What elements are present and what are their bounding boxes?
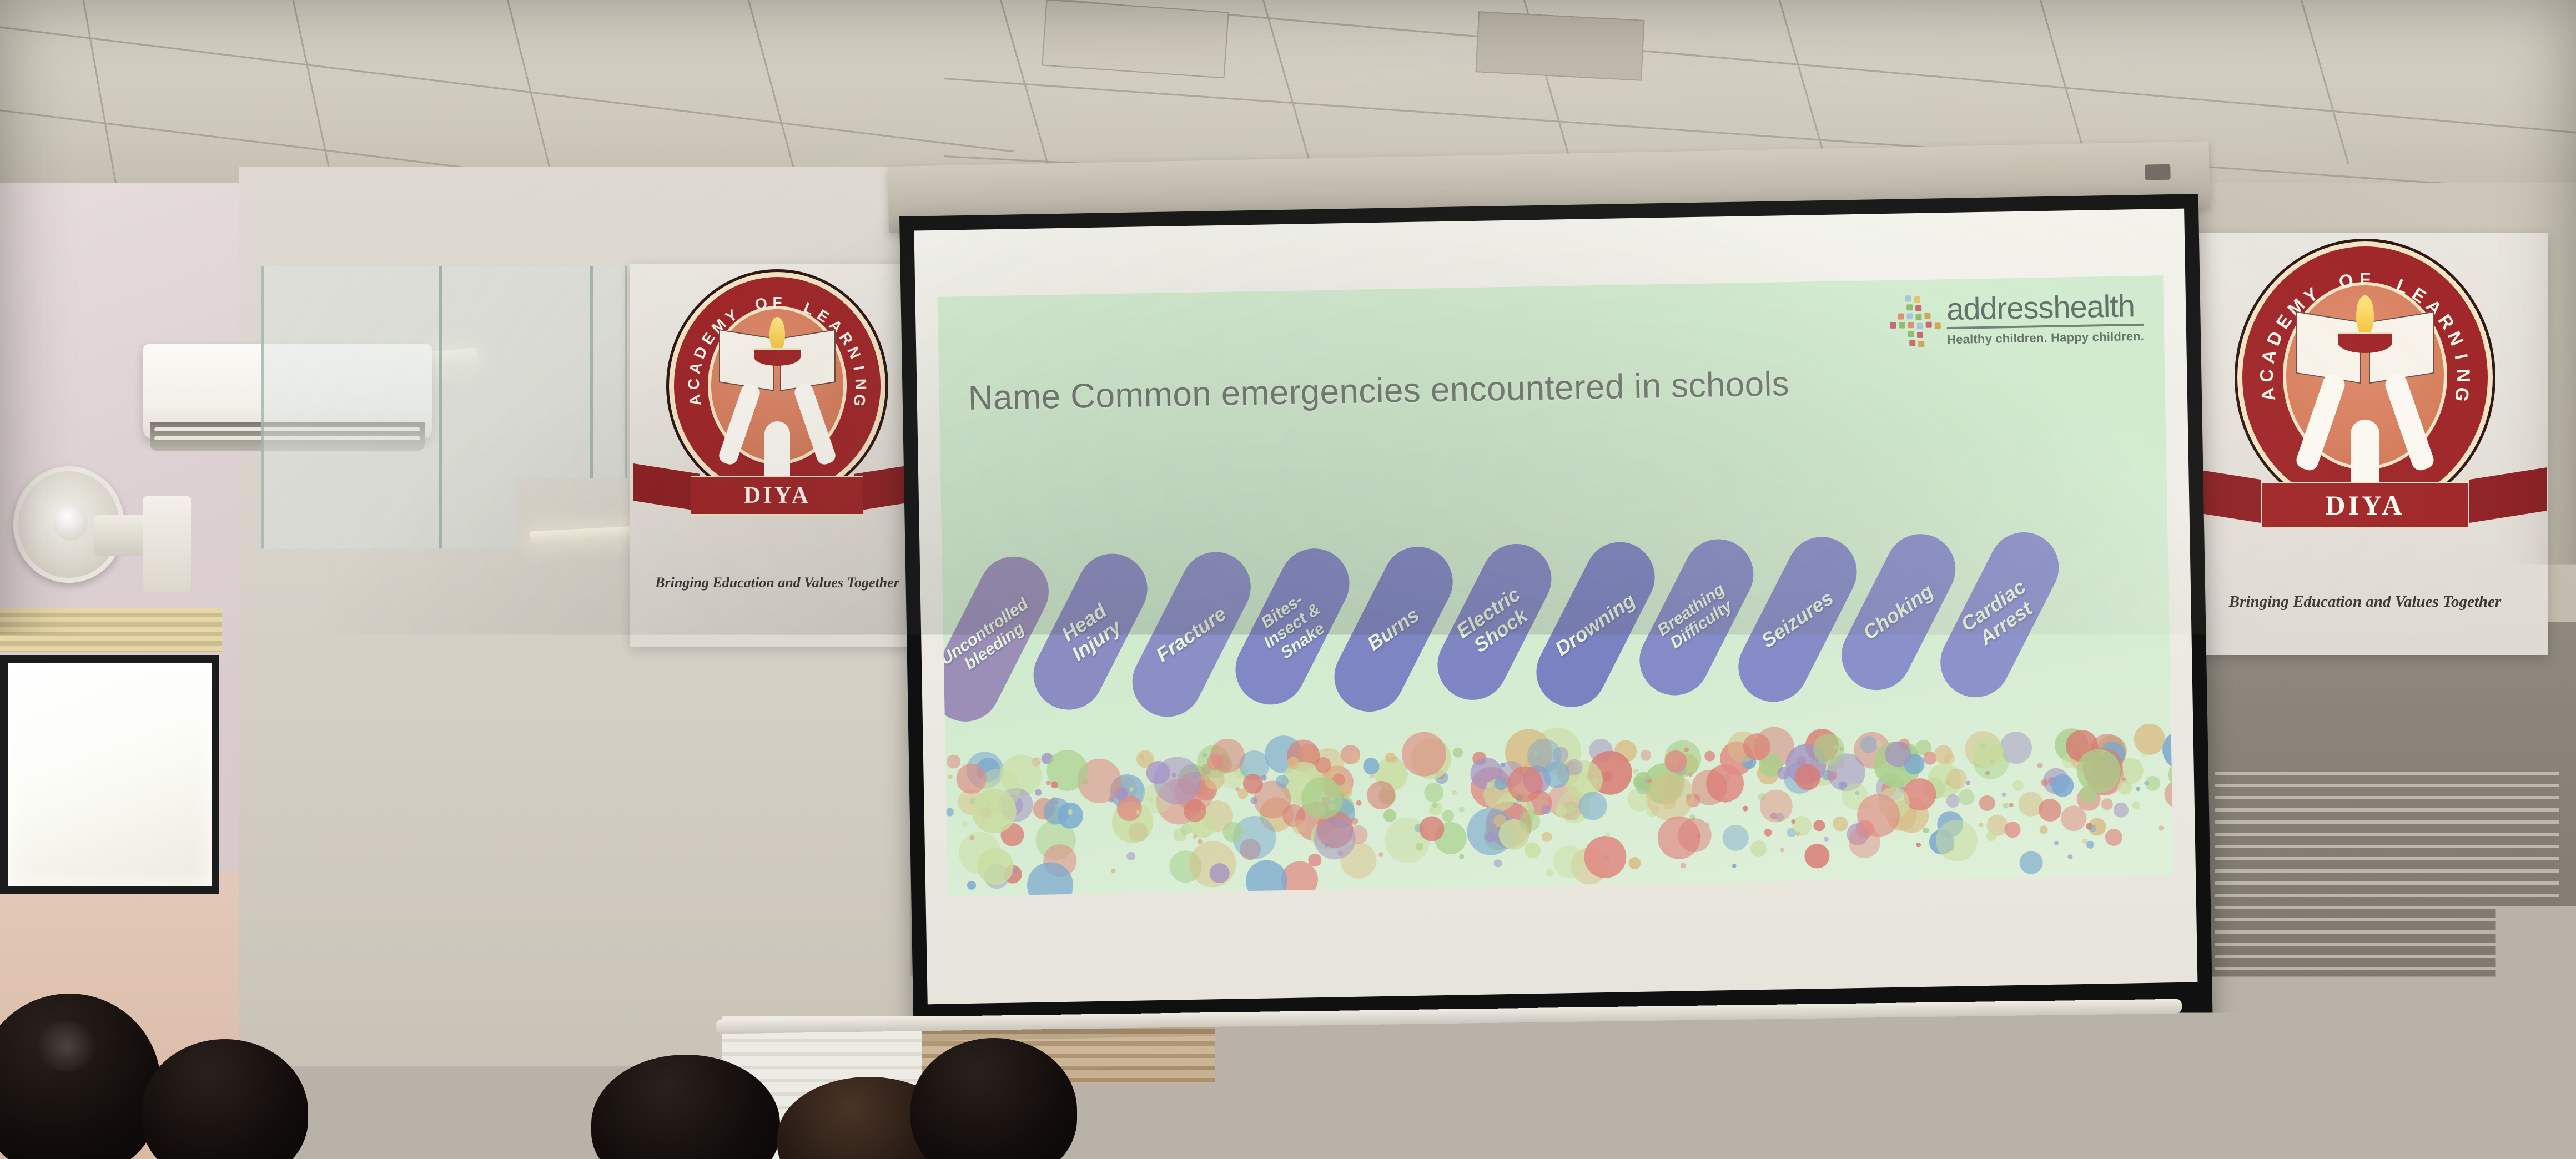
banner-tagline: Bringing Education and Values Together — [2182, 593, 2548, 611]
emergency-pill-label: Fracture — [1153, 602, 1230, 666]
bubble — [1723, 824, 1749, 851]
banner-tagline: Bringing Education and Values Together — [630, 575, 924, 591]
bubble — [1378, 852, 1383, 857]
bubble — [1246, 860, 1288, 896]
bubble — [977, 848, 1014, 885]
left-window-valance — [0, 608, 222, 652]
bubble — [2089, 824, 2097, 832]
bubble — [1794, 764, 1820, 790]
lamp-icon — [2338, 332, 2392, 353]
ceiling-vent — [1042, 0, 1229, 78]
crest-arc-letter: O — [753, 294, 769, 314]
bubble — [2173, 758, 2173, 765]
addresshealth-name: addresshealth — [1946, 290, 2144, 329]
bubble — [1367, 781, 1396, 810]
bubble — [2054, 841, 2059, 845]
bubble — [2039, 825, 2047, 834]
bubble — [2132, 801, 2141, 809]
bubble — [1442, 810, 1454, 822]
bubble — [1542, 805, 1551, 814]
crest-arc-letter: G — [849, 393, 869, 408]
bubble — [1791, 819, 1795, 824]
bubble — [1986, 831, 1996, 841]
emergency-pill-label: Drowning — [1552, 589, 1639, 660]
bubble — [2041, 779, 2047, 786]
diya-banner-right: ACADEMYOFLEARNING DIYA Bringing Educatio… — [2182, 233, 2548, 655]
bubble — [1485, 832, 1496, 843]
bubble — [1814, 820, 1825, 832]
bubble — [1035, 789, 1042, 796]
bubble — [946, 808, 954, 817]
bubble — [1459, 807, 1465, 812]
bubble — [1780, 848, 1784, 853]
roller-brand-plate — [2145, 164, 2171, 180]
bubble — [1012, 869, 1017, 873]
bubble — [962, 821, 969, 828]
crest-arc-letter: F — [2359, 269, 2371, 290]
bubble — [1309, 853, 1322, 866]
bubble — [2020, 851, 2043, 874]
bubble — [1237, 788, 1248, 799]
emergency-pill: Cardiac Arrest — [1929, 520, 2071, 709]
bubble — [1222, 822, 1244, 843]
crest-arc-letter: L — [2393, 275, 2411, 299]
crest-arc-letter: C — [2256, 369, 2277, 382]
lamp-icon — [754, 348, 801, 366]
bubble — [2051, 774, 2074, 797]
bubble — [1778, 767, 1790, 780]
classroom-photo: AUDITORIUM ACADEMYOFLEARNING DIYA — [0, 0, 2576, 1159]
crest-arc-letter: R — [2434, 310, 2459, 333]
bubble — [1979, 795, 1995, 812]
bubble — [1126, 851, 1135, 860]
emergency-pill-label: Uncontrolled bleeding — [938, 595, 1042, 683]
bubble — [2136, 787, 2140, 791]
bubble — [1923, 827, 1929, 833]
bubble — [1276, 774, 1289, 788]
emergency-pill-label: Cardiac Arrest — [1957, 576, 2042, 653]
addresshealth-wordmark: addresshealth Healthy children. Happy ch… — [1946, 290, 2145, 346]
bubble — [1546, 869, 1554, 877]
crest-name-label: DIYA — [2325, 489, 2404, 521]
bubble — [1459, 854, 1464, 859]
bubble — [2145, 781, 2149, 785]
addresshealth-logo: addresshealth Healthy children. Happy ch… — [1890, 290, 2145, 350]
bubble — [1856, 794, 1900, 837]
bubble — [1148, 797, 1153, 802]
bubble — [1453, 748, 1463, 758]
bubble — [2067, 854, 2072, 859]
emergency-pill: Burns — [1322, 535, 1465, 724]
crest-arc-letter: A — [2257, 386, 2280, 403]
right-window-blinds — [2215, 772, 2559, 1032]
bubble — [1641, 750, 1652, 761]
crest-arc-letter: R — [836, 329, 857, 349]
crest-arc-letter: E — [814, 306, 832, 326]
emergency-pill: Drowning — [1525, 530, 1667, 719]
emergency-pill-label: Burns — [1359, 601, 1428, 658]
bubble — [1935, 819, 1978, 862]
bubble — [2038, 799, 2061, 822]
emergency-pill: Uncontrolled bleeding — [938, 545, 1061, 734]
diya-crest: ACADEMYOFLEARNING DIYA — [630, 264, 924, 552]
bubble — [1494, 859, 1502, 868]
crest-arc-letter: A — [686, 361, 706, 376]
wall-fan-mount — [143, 496, 191, 592]
bubble — [1067, 809, 1073, 815]
bubble — [2134, 724, 2165, 755]
crest-arc-letter: O — [2337, 269, 2356, 293]
projection-screen-surface: addresshealth Healthy children. Happy ch… — [914, 209, 2197, 1005]
left-window — [0, 655, 219, 894]
bubble — [1681, 863, 1686, 869]
person-icon — [724, 382, 830, 488]
wall-fan-hub — [53, 504, 88, 541]
bubble — [1037, 757, 1042, 762]
person-icon — [2303, 373, 2427, 496]
crest-arc-letter: I — [849, 364, 868, 372]
bubble — [2159, 825, 2164, 830]
emergency-pill: Seizures — [1727, 525, 1869, 714]
pixel-cross-icon — [1890, 294, 1942, 350]
bubble — [2003, 803, 2009, 808]
crest-name-ribbon: DIYA — [691, 476, 863, 516]
crest-arc-letter: F — [772, 294, 782, 311]
decorative-bubbles — [945, 730, 2173, 896]
bubble — [1287, 757, 1300, 769]
bubble — [948, 774, 952, 779]
bubble — [2082, 839, 2087, 844]
ceiling-vent — [1475, 11, 1644, 81]
crest-name-ribbon: DIYA — [2262, 482, 2468, 528]
bubble — [2004, 822, 2021, 838]
bubble — [2101, 798, 2113, 810]
bubble — [1578, 792, 1607, 820]
bubble — [2002, 793, 2006, 797]
emergency-pill-label: Breathing Difficulty — [1654, 580, 1739, 654]
bubble — [1823, 837, 1829, 842]
bubble — [957, 764, 987, 794]
bubble — [1678, 818, 1712, 853]
crest-arc-letter: I — [2450, 352, 2472, 361]
bubble — [1605, 832, 1610, 837]
bubble — [1193, 834, 1197, 839]
emergency-pill-group: Uncontrolled bleedingHead InjuryFracture… — [942, 522, 2170, 727]
bubble — [2105, 829, 2122, 846]
bubble — [2164, 780, 2173, 808]
bubble — [2114, 803, 2129, 818]
bubble — [1261, 775, 1267, 781]
bubble — [1542, 832, 1552, 842]
crest-arc-letter: N — [852, 379, 869, 390]
flame-icon — [769, 317, 785, 351]
bubble — [1792, 816, 1812, 836]
bubble — [1743, 806, 1748, 812]
bubble — [2009, 803, 2013, 807]
bubble — [2037, 763, 2042, 768]
crest-arc-letter: A — [2257, 348, 2281, 365]
bubble — [1979, 823, 1983, 827]
crest-arc-letter: D — [2262, 328, 2287, 349]
bubble — [1292, 820, 1306, 834]
emergency-pill-label: Seizures — [1758, 587, 1838, 652]
bubble — [1305, 768, 1314, 776]
emergency-pill-label: Bites-Insect & Snake — [1249, 584, 1337, 669]
diya-banner-left: ACADEMYOFLEARNING DIYA Bringing Educatio… — [630, 264, 924, 647]
bubble — [2086, 841, 2094, 849]
diya-crest: ACADEMYOFLEARNING DIYA — [2182, 233, 2548, 566]
bubble — [1351, 754, 1360, 764]
crest-name-label: DIYA — [744, 482, 811, 509]
slide-title: Name Common emergencies encountered in s… — [968, 358, 2132, 418]
bubble — [1764, 829, 1772, 837]
emergency-pill-label: Choking — [1860, 581, 1938, 644]
bubble — [1804, 844, 1830, 869]
projection-screen: addresshealth Healthy children. Happy ch… — [899, 194, 2213, 1071]
emergency-pill-label: Head Injury — [1049, 594, 1131, 669]
bubble — [1958, 789, 1975, 805]
slide: addresshealth Healthy children. Happy ch… — [938, 275, 2174, 896]
bubble — [1629, 857, 1641, 869]
bubble — [1584, 835, 1627, 878]
crest-arc-letter: C — [685, 379, 703, 390]
crest-arc-letter: L — [801, 299, 817, 319]
emergency-pill: Fracture — [1120, 540, 1263, 729]
bubble — [1916, 843, 1920, 847]
bubble — [1750, 840, 1767, 857]
bubble — [1111, 868, 1116, 873]
bubble — [2061, 805, 2087, 832]
bubble — [1314, 818, 1356, 860]
crest-arc-letter: A — [686, 393, 705, 407]
frosted-glass-strip — [444, 588, 627, 899]
bubble — [1207, 754, 1224, 770]
crest-arc-letter: D — [691, 344, 711, 361]
crest-arc-letter: N — [2443, 328, 2467, 349]
bubble — [967, 881, 976, 890]
crest-arc-letter: E — [2408, 283, 2430, 308]
bubble — [1424, 783, 1443, 802]
bubble — [1704, 750, 1715, 762]
bubble — [1759, 789, 1793, 823]
bubble — [1419, 816, 1445, 841]
bubble — [947, 754, 960, 768]
bubble — [1383, 809, 1396, 822]
bubble — [1356, 800, 1362, 806]
bubble — [2012, 780, 2024, 791]
emergency-pill-label: Electric Shock — [1452, 583, 1536, 660]
bubble — [1518, 810, 1540, 832]
bubble — [1732, 863, 1736, 868]
bubble — [1525, 842, 1541, 858]
bubble — [2140, 750, 2147, 757]
crest-arc-letter: N — [2453, 369, 2474, 382]
bubble — [2117, 780, 2132, 794]
bubble — [1363, 758, 1380, 774]
addresshealth-tagline: Healthy children. Happy children. — [1947, 330, 2144, 346]
flame-icon — [2356, 295, 2374, 335]
bubble — [1452, 790, 1457, 795]
crest-arc-letter: G — [2450, 386, 2473, 404]
crest-arc-letter: N — [843, 344, 864, 361]
bubble — [1833, 816, 1848, 832]
bubble — [1946, 769, 1968, 790]
floor — [0, 1055, 2576, 1159]
